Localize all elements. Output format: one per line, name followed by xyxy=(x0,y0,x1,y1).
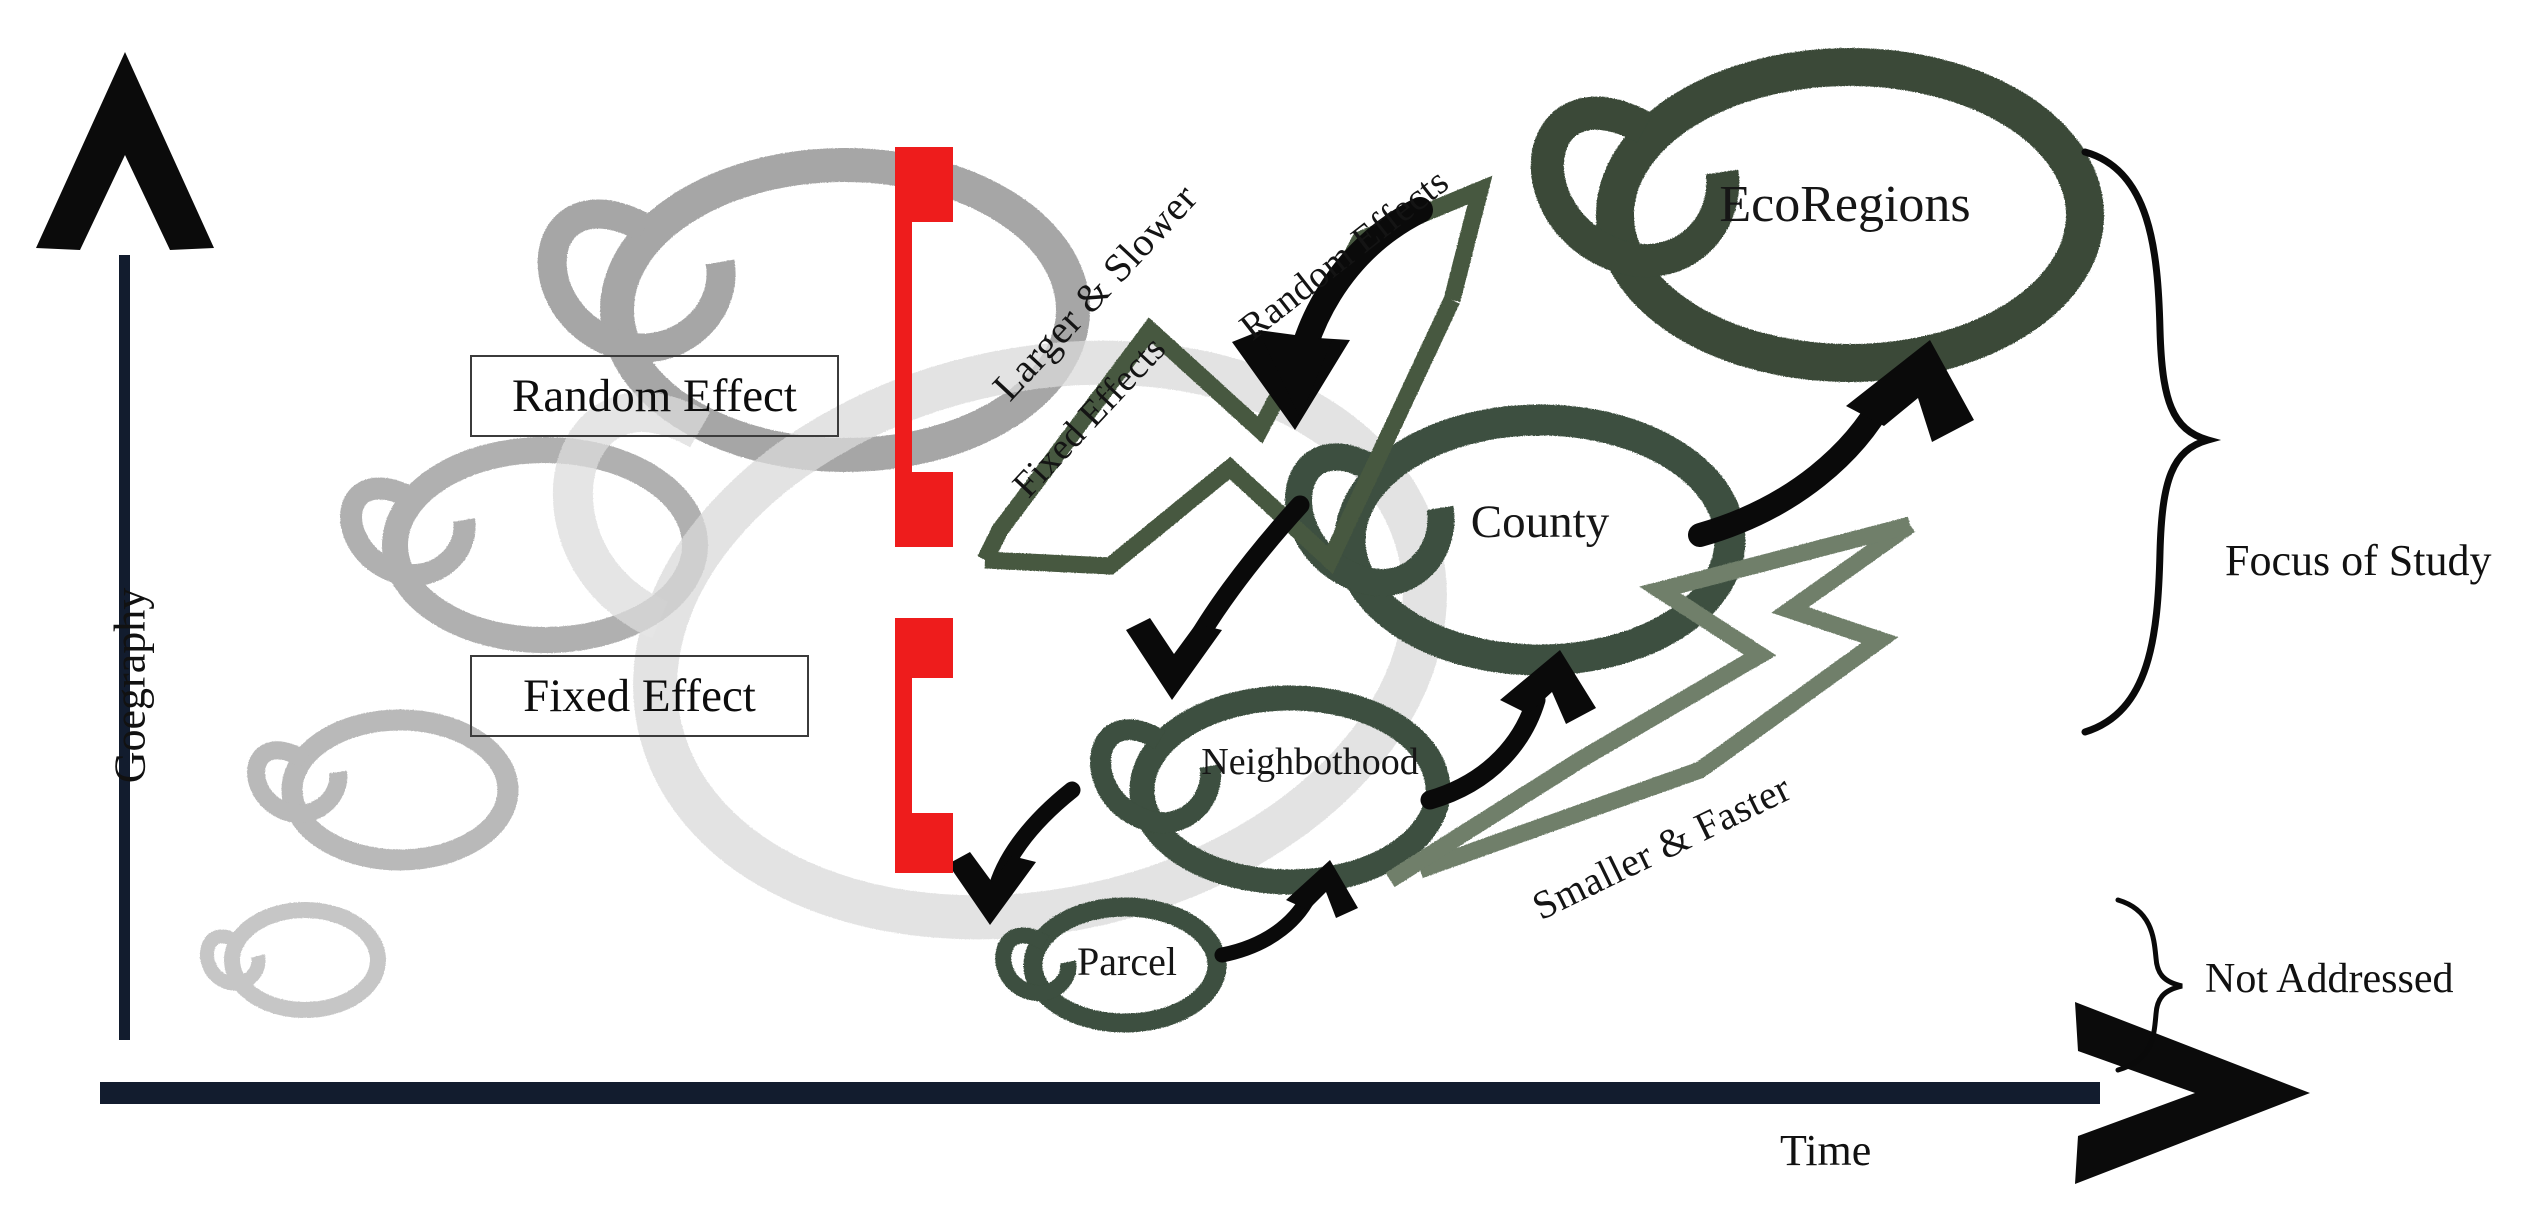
bracket-fixed-effect xyxy=(895,618,953,873)
x-axis xyxy=(100,1002,2310,1184)
annotation-not-addressed: Not Addressed xyxy=(2205,955,2453,1003)
brace-focus-of-study xyxy=(2085,152,2208,732)
bracket-random-effect xyxy=(895,147,953,547)
node-label-parcel: Parcel xyxy=(1062,938,1192,985)
diagram-svg xyxy=(0,0,2544,1213)
y-axis-label: Goegraphy xyxy=(105,536,156,836)
legend-box-fixed-effect-label: Fixed Effect xyxy=(523,669,756,723)
node-label-ecoregions: EcoRegions xyxy=(1680,175,2010,234)
legend-box-fixed-effect[interactable]: Fixed Effect xyxy=(470,655,809,737)
ghost-node-1 xyxy=(207,910,378,1010)
node-label-neighbothood: Neighbothood xyxy=(1185,740,1435,784)
node-label-county: County xyxy=(1450,495,1630,549)
diagram-canvas: Goegraphy Time Random Effect Fixed Effec… xyxy=(0,0,2544,1213)
x-axis-label: Time xyxy=(1780,1125,1871,1176)
legend-box-random-effect[interactable]: Random Effect xyxy=(470,355,839,437)
annotation-focus-of-study: Focus of Study xyxy=(2225,535,2491,586)
ghost-node-2 xyxy=(256,720,508,860)
legend-box-random-effect-label: Random Effect xyxy=(512,369,797,423)
